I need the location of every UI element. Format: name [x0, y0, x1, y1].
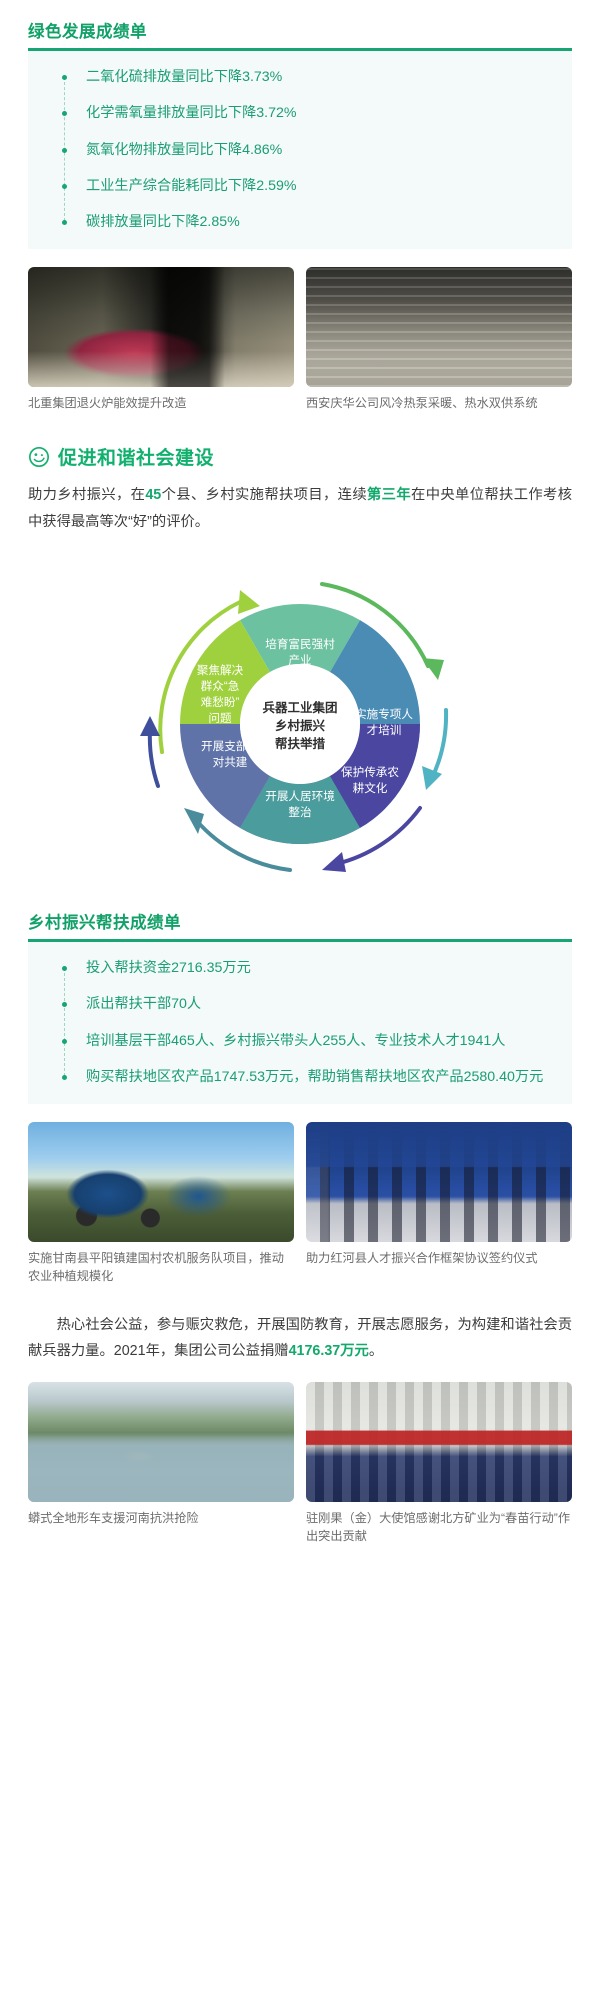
harmony-text-1: 助力乡村振兴，在: [28, 487, 145, 503]
embassy-photo: [306, 1382, 572, 1502]
green-scorecard-list: 二氧化硫排放量同比下降3.73% 化学需氧量排放量同比下降3.72% 氮氧化物排…: [62, 67, 562, 233]
smiley-face-icon: [28, 446, 50, 468]
green-photo-row: 北重集团退火炉能效提升改造 西安庆华公司风冷热泵采暖、热水双供系统: [28, 267, 572, 413]
donut-label-5-line-1: 聚焦解决: [197, 663, 244, 677]
article-page: 绿色发展成绩单 二氧化硫排放量同比下降3.73% 化学需氧量排放量同比下降3.7…: [0, 0, 600, 1556]
cycle-arrow-green-right-head: [422, 658, 444, 680]
cycle-arrow-navy-left: [150, 730, 158, 786]
list-item: 购买帮扶地区农产品1747.53万元，帮助销售帮扶地区农产品2580.40万元: [62, 1067, 562, 1088]
green-photo-1: 北重集团退火炉能效提升改造: [28, 267, 294, 413]
photo-caption: 实施甘南县平阳镇建国村农机服务队项目，推动农业种植规模化: [28, 1250, 294, 1285]
list-item: 碳排放量同比下降2.85%: [62, 212, 562, 233]
rural-scorecard-list: 投入帮扶资金2716.35万元 派出帮扶干部70人 培训基层干部465人、乡村振…: [62, 958, 562, 1088]
cycle-arrow-teal-right-head: [422, 766, 442, 790]
donut-label-5-line-2: 群众“急: [201, 679, 240, 693]
list-item: 派出帮扶干部70人: [62, 994, 562, 1015]
donut-label-0-line-1: 培育富民强村: [265, 637, 335, 651]
donut-center-line-2: 乡村振兴: [275, 718, 326, 733]
signing-ceremony-photo: [306, 1122, 572, 1242]
list-item: 氮氧化物排放量同比下降4.86%: [62, 140, 562, 161]
cycle-arrow-blue-bottomleft-head: [184, 808, 204, 834]
harmony-text-2: 个县、乡村实施帮扶项目，连续: [161, 487, 367, 503]
cycle-arrow-green-left-head: [238, 590, 260, 614]
amphibious-vehicle-photo: [28, 1382, 294, 1502]
donut-label-2-line-1: 保护传承农: [341, 765, 399, 779]
rural-scorecard-box: 投入帮扶资金2716.35万元 派出帮扶干部70人 培训基层干部465人、乡村振…: [28, 942, 572, 1104]
donut-label-5-line-4: 问题: [208, 712, 232, 725]
harmony-paragraph: 助力乡村振兴，在45个县、乡村实施帮扶项目，连续第三年在中央单位帮扶工作考核中获…: [28, 482, 572, 535]
rural-photo-2: 助力红河县人才振兴合作框架协议签约仪式: [306, 1122, 572, 1285]
list-item: 二氧化硫排放量同比下降3.73%: [62, 67, 562, 88]
welfare-highlight-donation: 4176.37万元: [289, 1343, 369, 1359]
donut-svg: 兵器工业集团 乡村振兴 帮扶举措 培育富民强村 产业 实施专项人 才培训 保护传…: [90, 559, 510, 889]
donut-label-3-line-2: 整治: [288, 805, 311, 819]
donut-center-line-1: 兵器工业集团: [262, 700, 337, 715]
rural-photo-1: 实施甘南县平阳镇建国村农机服务队项目，推动农业种植规模化: [28, 1122, 294, 1285]
list-item: 工业生产综合能耗同比下降2.59%: [62, 176, 562, 197]
green-scorecard-box: 二氧化硫排放量同比下降3.73% 化学需氧量排放量同比下降3.72% 氮氧化物排…: [28, 51, 572, 249]
donut-label-0-line-2: 产业: [288, 653, 311, 667]
top-spacer: [0, 0, 600, 18]
donut-center-line-3: 帮扶举措: [275, 736, 326, 751]
rural-measures-donut-chart: 兵器工业集团 乡村振兴 帮扶举措 培育富民强村 产业 实施专项人 才培训 保护传…: [0, 559, 600, 889]
donut-label-2-line-2: 耕文化: [353, 781, 388, 795]
welfare-top-spacer: [0, 1286, 600, 1312]
harmony-section-header: 促进和谐社会建设: [28, 443, 572, 470]
donut-label-1-line-2: 才培训: [367, 723, 402, 737]
photo-caption: 助力红河县人才振兴合作框架协议签约仪式: [306, 1250, 572, 1268]
photo-caption: 蟒式全地形车支援河南抗洪抢险: [28, 1510, 294, 1528]
factory-furnace-photo: [28, 267, 294, 387]
donut-label-4-line-1: 开展支部结: [201, 739, 259, 753]
heat-pump-photo: [306, 267, 572, 387]
donut-label-3-line-1: 开展人居环境: [265, 789, 335, 803]
cycle-arrow-teal-right: [432, 710, 446, 778]
list-item: 培训基层干部465人、乡村振兴带头人255人、专业技术人才1941人: [62, 1031, 562, 1052]
cycle-arrow-purple-bottom-head: [322, 852, 346, 872]
welfare-photo-1: 蟒式全地形车支援河南抗洪抢险: [28, 1382, 294, 1545]
donut-bottom-spacer: [0, 899, 600, 909]
harmony-highlight-third-year: 第三年: [367, 487, 411, 503]
harmony-highlight-45: 45: [145, 487, 161, 503]
photo-caption: 西安庆华公司风冷热泵采暖、热水双供系统: [306, 395, 572, 413]
welfare-photo-2: 驻刚果（金）大使馆感谢北方矿业为“春苗行动”作出突出贡献: [306, 1382, 572, 1545]
photo-caption: 驻刚果（金）大使馆感谢北方矿业为“春苗行动”作出突出贡献: [306, 1510, 572, 1545]
list-item: 投入帮扶资金2716.35万元: [62, 958, 562, 979]
green-photo-2: 西安庆华公司风冷热泵采暖、热水双供系统: [306, 267, 572, 413]
rural-photo-row: 实施甘南县平阳镇建国村农机服务队项目，推动农业种植规模化 助力红河县人才振兴合作…: [28, 1122, 572, 1285]
tractor-photo: [28, 1122, 294, 1242]
donut-label-5-line-3: 难愁盼”: [201, 696, 240, 709]
donut-label-4-line-2: 对共建: [213, 755, 248, 769]
donut-label-1-line-1: 实施专项人: [355, 707, 413, 721]
list-item: 化学需氧量排放量同比下降3.72%: [62, 103, 562, 124]
cycle-arrow-navy-left-head: [140, 716, 160, 736]
welfare-paragraph: 热心社会公益，参与赈灾救危，开展国防教育，开展志愿服务，为构建和谐社会贡献兵器力…: [28, 1312, 572, 1365]
rural-scorecard-title: 乡村振兴帮扶成绩单: [0, 909, 600, 939]
welfare-text-2: 。: [369, 1343, 383, 1359]
photo-caption: 北重集团退火炉能效提升改造: [28, 395, 294, 413]
welfare-photo-row: 蟒式全地形车支援河南抗洪抢险 驻刚果（金）大使馆感谢北方矿业为“春苗行动”作出突…: [28, 1382, 572, 1545]
harmony-section-title: 促进和谐社会建设: [58, 443, 214, 470]
green-scorecard-title: 绿色发展成绩单: [0, 18, 600, 48]
